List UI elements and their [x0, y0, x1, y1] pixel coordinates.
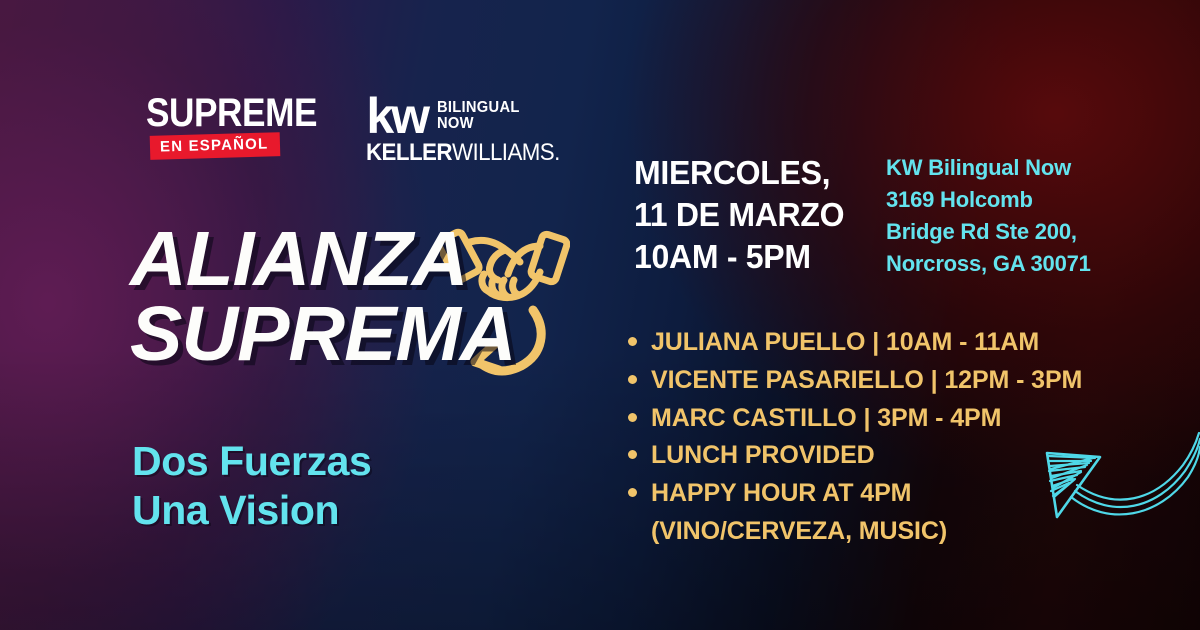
event-flyer: SUPREME EN ESPAÑOL kw BILINGUAL NOW KELL… — [0, 0, 1200, 630]
agenda-item-label: VICENTE PASARIELLO | 12PM - 3PM — [651, 366, 1082, 395]
kw-sub-line1: BILINGUAL — [437, 100, 520, 116]
agenda-item-label: MARC CASTILLO | 3PM - 4PM — [651, 404, 1001, 433]
venue-name: KW Bilingual Now — [886, 152, 1091, 184]
address-city-state-zip: Norcross, GA 30071 — [886, 248, 1091, 280]
tagline: Dos Fuerzas Una Vision — [132, 437, 371, 535]
headline-line-2: SUPREMA — [130, 297, 516, 372]
bullet-icon — [628, 450, 637, 459]
headline-line-1: ALIANZA — [130, 222, 516, 297]
page-title: ALIANZA SUPREMA — [130, 222, 508, 371]
kw-monogram-icon: kw — [366, 96, 427, 136]
address-line-1: 3169 Holcomb — [886, 184, 1091, 216]
event-address-block: KW Bilingual Now 3169 Holcomb Bridge Rd … — [886, 152, 1091, 280]
supreme-badge-en-espanol: EN ESPAÑOL — [150, 132, 281, 160]
agenda-list: JULIANA PUELLO | 10AM - 11AM VICENTE PAS… — [628, 328, 1082, 546]
kw-name-bold: KELLER — [366, 139, 452, 166]
keller-williams-wordmark: KELLERWILLIAMS. — [366, 139, 560, 167]
list-item: MARC CASTILLO | 3PM - 4PM — [628, 404, 1082, 433]
bullet-icon — [628, 413, 637, 422]
list-item: JULIANA PUELLO | 10AM - 11AM — [628, 328, 1082, 357]
supreme-en-espanol-logo: SUPREME EN ESPAÑOL — [146, 94, 340, 158]
bullet-icon — [628, 488, 637, 497]
event-date: 11 DE MARZO — [634, 194, 844, 236]
kw-bilingual-now-label: BILINGUAL NOW — [437, 100, 520, 132]
agenda-item-label: LUNCH PROVIDED — [651, 441, 875, 470]
list-item: VICENTE PASARIELLO | 12PM - 3PM — [628, 366, 1082, 395]
tagline-line-1: Dos Fuerzas — [132, 437, 371, 486]
kw-logo-top: kw BILINGUAL NOW — [366, 96, 527, 136]
logo-row: SUPREME EN ESPAÑOL kw BILINGUAL NOW KELL… — [146, 94, 575, 167]
agenda-item-label: JULIANA PUELLO | 10AM - 11AM — [651, 328, 1039, 357]
address-line-2: Bridge Rd Ste 200, — [886, 216, 1091, 248]
event-day: MIERCOLES, — [634, 152, 844, 194]
kw-name-thin: WILLIAMS. — [452, 139, 560, 166]
tagline-line-2: Una Vision — [132, 486, 371, 535]
keller-williams-logo: kw BILINGUAL NOW KELLERWILLIAMS. — [366, 96, 574, 167]
agenda-item-sublabel: (VINO/CERVEZA, MUSIC) — [651, 517, 1082, 546]
list-item: LUNCH PROVIDED — [628, 441, 1082, 470]
supreme-wordmark: SUPREME — [146, 94, 317, 132]
list-item: HAPPY HOUR AT 4PM — [628, 479, 1082, 508]
bullet-icon — [628, 337, 637, 346]
bullet-icon — [628, 375, 637, 384]
event-date-block: MIERCOLES, 11 DE MARZO 10AM - 5PM — [634, 152, 851, 279]
event-time-range: 10AM - 5PM — [634, 236, 844, 278]
agenda-item-label: HAPPY HOUR AT 4PM — [651, 479, 911, 508]
kw-sub-line2: NOW — [437, 116, 520, 132]
